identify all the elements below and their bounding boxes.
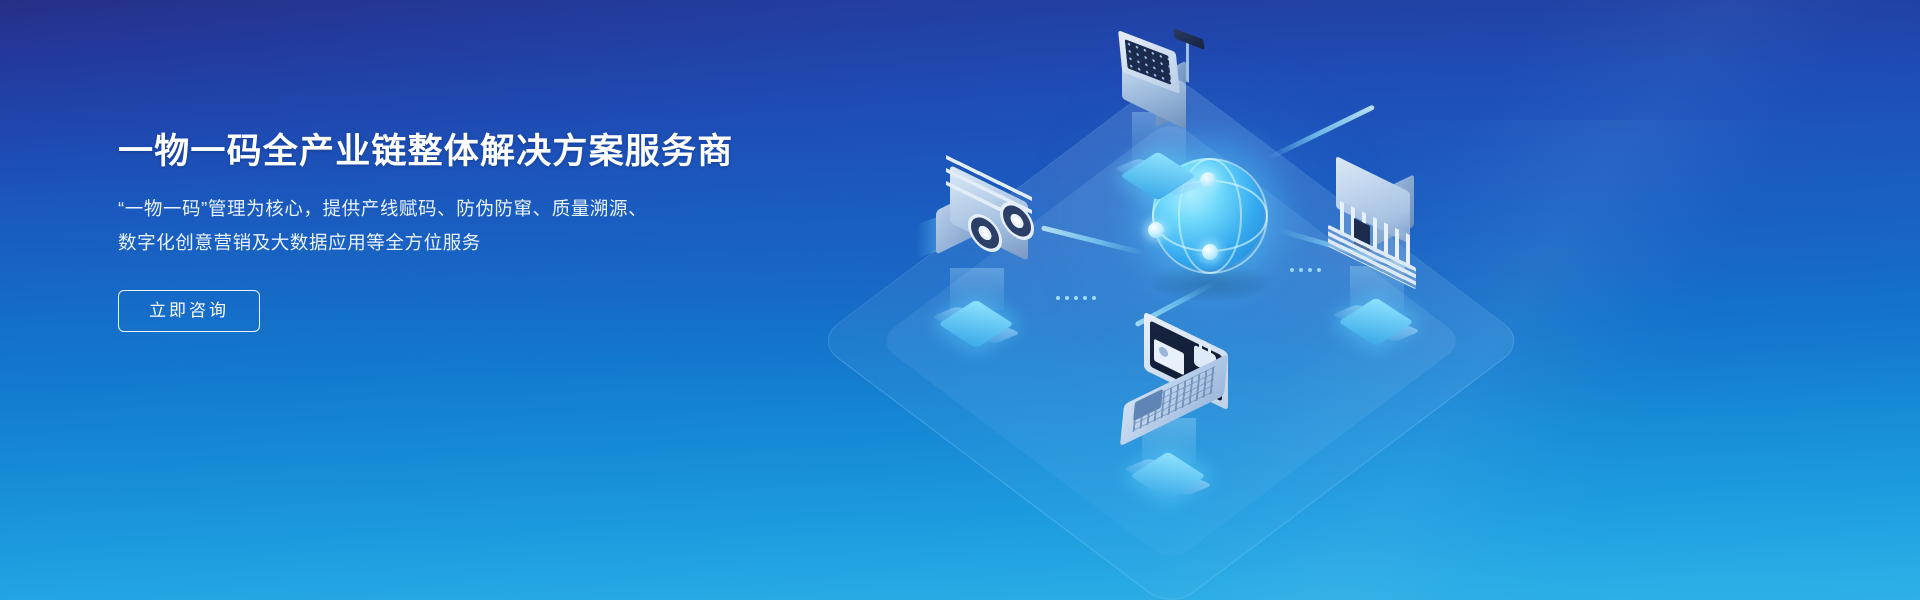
banner-subtitle-line-2: 数字化创意营销及大数据应用等全方位服务 <box>118 226 838 260</box>
banner-stage: 一物一码全产业链整体解决方案服务商 “一物一码”管理为核心，提供产线赋码、防伪防… <box>0 0 1920 600</box>
sphere-node-3 <box>1202 244 1218 260</box>
consult-now-button[interactable]: 立即咨询 <box>118 290 260 332</box>
connection-beam-top-right <box>1267 104 1375 160</box>
sphere-node-2 <box>1148 222 1164 238</box>
sphere-node-1 <box>1200 172 1216 188</box>
banner-copy: 一物一码全产业链整体解决方案服务商 “一物一码”管理为核心，提供产线赋码、防伪防… <box>118 130 838 332</box>
laptop-lock-icon <box>1114 326 1264 456</box>
server-rack-icon <box>916 168 1066 288</box>
data-flow-dots-left <box>1056 296 1096 300</box>
pos-terminal-icon <box>1102 28 1222 138</box>
pedestal-pos <box>1126 150 1190 180</box>
pedestal-bank <box>1344 296 1408 326</box>
pedestal-server <box>944 298 1008 328</box>
isometric-illustration <box>880 0 1920 600</box>
banner-headline: 一物一码全产业链整体解决方案服务商 <box>118 130 838 174</box>
bank-building-icon <box>1314 166 1454 296</box>
banner-subtitle: “一物一码”管理为核心，提供产线赋码、防伪防窜、质量溯源、 数字化创意营销及大数… <box>118 192 838 260</box>
banner-subtitle-line-1: “一物一码”管理为核心，提供产线赋码、防伪防窜、质量溯源、 <box>118 192 838 226</box>
